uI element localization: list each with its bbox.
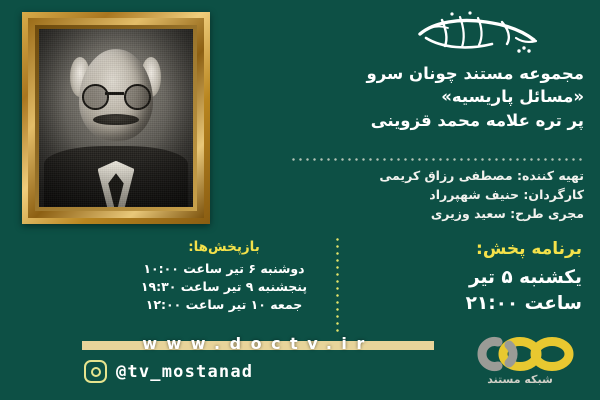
rebroadcast-line-1: دوشنبه ۶ تیر ساعت ۱۰:۰۰	[118, 260, 330, 278]
instagram-handle[interactable]: @tv_mostanad	[116, 362, 253, 382]
poster-canvas: مجموعه مستند چونان سرو «مسائل پاریسیه» پ…	[0, 0, 600, 400]
title-line-episode: «مسائل پاریسیه»	[284, 85, 584, 108]
credits-block: تهیه کننده: مصطفی رزاق کریمی کارگردان: ح…	[284, 166, 584, 223]
network-rings-icon	[464, 336, 576, 372]
broadcast-day: یکشنبه ۵ تیر	[370, 265, 582, 291]
broadcast-time: ساعت ۲۱:۰۰	[370, 291, 582, 317]
portrait-vignette	[39, 29, 193, 207]
portrait-frame-inner-molding	[35, 25, 197, 211]
credit-project-manager: مجری طرح: سعید وزیری	[284, 204, 584, 223]
title-line-subject: پر تره علامه محمد قزوینی	[284, 109, 584, 132]
rebroadcast-label: بازپخش‌ها:	[118, 238, 330, 258]
title-line-series: مجموعه مستند چونان سرو	[284, 62, 584, 85]
portrait-frame	[22, 12, 210, 224]
instagram-row[interactable]: @tv_mostanad	[84, 360, 253, 383]
website-url[interactable]: www.doctv.ir	[82, 334, 434, 353]
portrait-frame-middle-molding	[28, 18, 204, 218]
rebroadcast-line-2: پنجشنبه ۹ تیر ساعت ۱۹:۳۰	[118, 278, 330, 296]
rebroadcast-line-3: جمعه ۱۰ تیر ساعت ۱۲:۰۰	[118, 296, 330, 314]
broadcast-block: برنامه پخش: یکشنبه ۵ تیر ساعت ۲۱:۰۰	[370, 238, 582, 317]
network-logo: شبکه مستند	[464, 336, 576, 394]
network-name: شبکه مستند	[464, 373, 576, 386]
credit-director: کارگردان: حنیف شهپرراد	[284, 185, 584, 204]
instagram-icon[interactable]	[84, 360, 107, 383]
portrait-photo	[39, 29, 193, 207]
broadcast-label: برنامه پخش:	[370, 238, 582, 262]
calligraphy-logo-icon	[412, 8, 542, 56]
horizontal-dotted-divider	[290, 158, 582, 161]
title-block: مجموعه مستند چونان سرو «مسائل پاریسیه» پ…	[284, 62, 584, 132]
vertical-dotted-divider	[336, 236, 339, 332]
rebroadcast-block: بازپخش‌ها: دوشنبه ۶ تیر ساعت ۱۰:۰۰ پنجشن…	[118, 238, 330, 314]
credit-producer: تهیه کننده: مصطفی رزاق کریمی	[284, 166, 584, 185]
